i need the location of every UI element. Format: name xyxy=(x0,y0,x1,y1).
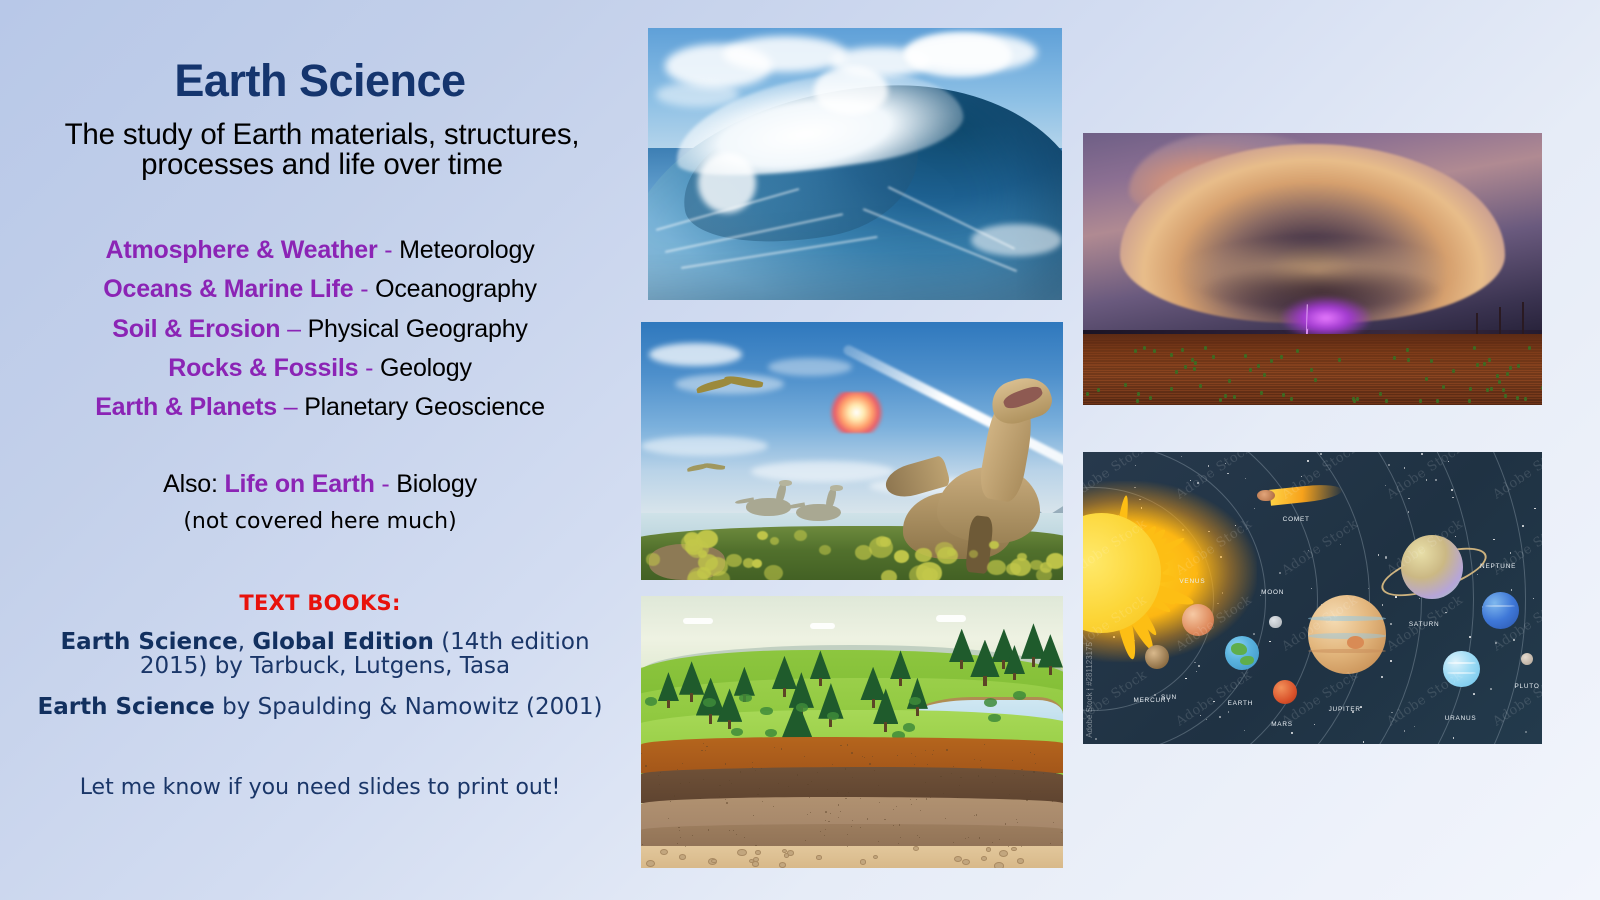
pterosaur xyxy=(696,374,764,397)
label-mercury: MERCURY xyxy=(1133,697,1171,704)
also-note: (not covered here much) xyxy=(0,509,640,534)
soil-speck xyxy=(719,785,721,787)
band xyxy=(1447,662,1476,664)
branch-field: Physical Geography xyxy=(308,315,528,343)
soil-speck xyxy=(1033,771,1035,773)
great-red-spot xyxy=(1347,636,1364,649)
shrub xyxy=(739,694,752,703)
crop-sprout xyxy=(1136,399,1139,403)
furrow-line xyxy=(1083,384,1542,386)
lightning-glow xyxy=(1280,296,1372,340)
crop-sprout xyxy=(1425,377,1428,381)
star xyxy=(1385,485,1386,486)
crop-sprout xyxy=(1124,383,1127,387)
shrub xyxy=(1046,553,1063,569)
conifer-tree xyxy=(1038,634,1063,675)
star xyxy=(1363,741,1365,743)
soil-speck xyxy=(679,830,680,831)
furrow-line xyxy=(1083,355,1542,357)
tree-trunk xyxy=(916,707,919,715)
image-dinosaur-impact xyxy=(641,322,1063,580)
star xyxy=(1451,489,1453,491)
pebble xyxy=(962,859,970,865)
soil-speck xyxy=(851,826,852,827)
branch-list: Atmosphere & Weather - Meteorology Ocean… xyxy=(0,231,640,427)
shrub xyxy=(1013,691,1026,700)
soil-speck xyxy=(773,806,774,807)
star xyxy=(1473,693,1475,695)
pebble xyxy=(860,859,867,864)
crop-sprout xyxy=(1233,395,1236,399)
also-prefix: Also: xyxy=(163,470,218,498)
meteor-fireball xyxy=(829,392,884,433)
conifer-tree xyxy=(873,688,898,732)
soil-speck xyxy=(864,757,865,758)
tree-trunk xyxy=(884,722,887,732)
soil-speck xyxy=(893,825,894,826)
also-dash: - xyxy=(381,470,389,498)
soil-speck xyxy=(862,756,863,757)
label-venus: VENUS xyxy=(1179,578,1205,585)
shrub xyxy=(903,723,916,732)
tree-canopy xyxy=(734,667,755,696)
star xyxy=(1266,744,1267,745)
crop-sprout xyxy=(1282,393,1285,397)
star xyxy=(1388,464,1390,466)
tree-trunk xyxy=(690,693,693,702)
pebble xyxy=(816,855,821,859)
shrub xyxy=(760,707,773,716)
crop-sprout xyxy=(1257,364,1260,368)
book1-title-a: Earth Science xyxy=(60,629,237,655)
crop-sprout xyxy=(1184,365,1187,369)
star xyxy=(1314,724,1315,725)
planet-earth xyxy=(1225,636,1259,670)
soil-speck xyxy=(1012,760,1013,761)
star xyxy=(1414,726,1415,727)
shrub xyxy=(909,565,933,580)
star xyxy=(1390,660,1392,662)
book1-comma: , xyxy=(238,629,245,655)
book2-details: by Spaulding & Namowitz (2001) xyxy=(222,694,602,720)
shrub xyxy=(688,567,712,580)
crop-sprout xyxy=(1310,368,1313,372)
pebble xyxy=(999,850,1009,857)
footnote-text: Let me know if you need slides to print … xyxy=(0,775,640,800)
furrow-line xyxy=(1083,342,1542,344)
stock-asset-id: Adobe Stock | #281123175 xyxy=(1085,642,1094,738)
utility-pole xyxy=(1476,313,1478,335)
label-uranus: URANUS xyxy=(1445,715,1477,722)
soil-speck xyxy=(946,749,947,750)
image-supercell-storm xyxy=(1083,133,1542,405)
list-item: Atmosphere & Weather - Meteorology xyxy=(0,231,640,270)
soil-speck xyxy=(729,830,730,831)
soil-speck xyxy=(1023,775,1024,776)
label-jupiter: JUPITER xyxy=(1329,706,1361,713)
textbooks-heading: TEXT BOOKS: xyxy=(0,591,640,615)
book2-title: Earth Science xyxy=(38,694,215,720)
branch-dash: - xyxy=(365,354,373,382)
soil-speck xyxy=(980,760,981,761)
cloud-shape xyxy=(649,343,742,366)
cloud-shape xyxy=(810,623,835,629)
shrub xyxy=(770,537,779,545)
furrow-line xyxy=(1083,381,1542,383)
soil-speck xyxy=(668,818,669,819)
label-moon: MOON xyxy=(1261,589,1284,596)
soil-speck xyxy=(825,820,826,821)
crop-sprout xyxy=(1486,388,1489,392)
soil-speck xyxy=(920,810,921,811)
branch-topic: Atmosphere & Weather xyxy=(105,236,377,264)
shrub xyxy=(881,570,897,580)
furrow-line xyxy=(1083,358,1542,360)
soil-speck xyxy=(752,762,753,763)
soil-speck xyxy=(869,763,870,764)
shrub xyxy=(703,698,716,707)
tree-trunk xyxy=(899,678,902,686)
crop-sprout xyxy=(1153,349,1156,353)
crop-sprout xyxy=(1517,364,1520,368)
page-subtitle: The study of Earth materials, structures… xyxy=(32,120,612,179)
crop-sprout xyxy=(1407,358,1410,362)
soil-speck xyxy=(840,811,841,812)
soil-speck xyxy=(984,744,985,745)
crop-sprout xyxy=(1483,362,1486,366)
planet-moon xyxy=(1269,616,1282,629)
furrow-line xyxy=(1083,386,1542,388)
cloud-shape xyxy=(936,615,966,622)
furrow-line xyxy=(1083,350,1542,352)
furrow-line xyxy=(1083,376,1542,378)
soil-speck xyxy=(867,818,869,820)
band xyxy=(1308,649,1386,654)
pebble xyxy=(994,862,1004,868)
crop-sprout xyxy=(1504,394,1507,398)
shrub xyxy=(646,553,661,566)
continent xyxy=(1240,656,1254,665)
soil-speck xyxy=(897,755,898,756)
branch-dash: - xyxy=(384,236,392,264)
soil-speck xyxy=(788,786,789,787)
pterosaur xyxy=(687,461,725,474)
crop-sprout xyxy=(1134,349,1137,353)
branch-topic: Earth & Planets xyxy=(95,393,277,421)
star xyxy=(1368,588,1369,589)
textbook-entry-2: Earth Science by Spaulding & Namowitz (2… xyxy=(20,694,620,720)
soil-speck xyxy=(689,782,690,783)
band xyxy=(1308,633,1386,639)
shrub xyxy=(819,545,831,555)
soil-speck xyxy=(974,815,975,816)
pebble xyxy=(737,849,747,856)
soil-speck xyxy=(733,830,734,831)
book1-title-b: Global Edition xyxy=(252,629,434,655)
soil-speck xyxy=(1021,846,1022,847)
crop-sprout xyxy=(1219,398,1222,402)
tree-canopy xyxy=(658,672,679,701)
crop-sprout xyxy=(1175,370,1178,374)
star xyxy=(1340,544,1341,545)
text-column: Earth Science The study of Earth materia… xyxy=(0,0,640,900)
soil-speck xyxy=(911,804,912,805)
branch-field: Geology xyxy=(380,354,472,382)
crop-sprout xyxy=(1224,394,1227,398)
soil-speck xyxy=(830,813,831,814)
sea-spray xyxy=(814,66,889,115)
soil-speck xyxy=(979,837,980,838)
star xyxy=(1435,479,1437,481)
soil-speck xyxy=(919,837,920,838)
crop-sprout xyxy=(1356,397,1359,401)
tree-canopy xyxy=(890,650,911,679)
star xyxy=(1154,694,1156,696)
shrub xyxy=(988,714,1001,723)
tree-trunk xyxy=(709,714,713,724)
crop-sprout xyxy=(1379,392,1382,396)
star xyxy=(1291,732,1292,733)
soil-speck xyxy=(1035,763,1036,764)
crop-sprout xyxy=(1516,396,1519,400)
soil-speck xyxy=(874,770,875,771)
soil-speck xyxy=(825,811,827,813)
tree-trunk xyxy=(1013,673,1016,681)
crop-sprout xyxy=(1541,386,1542,390)
branch-field: Oceanography xyxy=(375,275,537,303)
cloud-shape xyxy=(641,436,768,457)
list-item: Rocks & Fossils - Geology xyxy=(0,349,640,388)
pebble xyxy=(784,853,790,858)
crop-sprout xyxy=(1170,353,1173,357)
soil-speck xyxy=(726,802,727,803)
soil-speck xyxy=(755,845,756,846)
soil-speck xyxy=(680,783,681,784)
soil-speck xyxy=(827,789,828,790)
branch-dash: – xyxy=(284,393,298,421)
tree-canopy xyxy=(810,650,831,679)
pebble xyxy=(986,847,992,851)
star xyxy=(1525,731,1527,733)
crop-sprout xyxy=(1204,346,1207,350)
list-item: Earth & Planets – Planetary Geoscience xyxy=(0,388,640,427)
furrow-line xyxy=(1083,394,1542,396)
page-title: Earth Science xyxy=(0,55,640,107)
soil-speck xyxy=(916,799,917,800)
soil-speck xyxy=(852,777,853,778)
soil-speck xyxy=(965,838,966,839)
shrub xyxy=(1010,558,1031,576)
soil-speck xyxy=(658,775,659,776)
conifer-tree xyxy=(818,683,843,727)
furrow-line xyxy=(1083,402,1542,404)
crop-sprout xyxy=(1473,346,1476,350)
crop-sprout xyxy=(1314,378,1317,382)
list-item: Soil & Erosion – Physical Geography xyxy=(0,310,640,349)
soil-speck xyxy=(807,814,808,815)
soil-speck xyxy=(674,795,675,796)
pebble xyxy=(660,849,668,855)
pebble xyxy=(779,862,786,868)
tree-trunk xyxy=(728,720,731,729)
pebble xyxy=(646,860,655,867)
shrub xyxy=(969,550,978,558)
soil-speck xyxy=(1026,799,1027,800)
soil-speck xyxy=(677,843,678,844)
conifer-tree xyxy=(658,672,679,707)
star xyxy=(1453,737,1454,738)
soil-speck xyxy=(670,801,671,802)
slide-canvas: Earth Science The study of Earth materia… xyxy=(0,0,1600,900)
branch-topic: Oceans & Marine Life xyxy=(103,275,353,303)
crop-sprout xyxy=(1436,399,1439,403)
tree-trunk xyxy=(1049,666,1052,675)
shrub xyxy=(645,697,658,706)
branch-topic: Soil & Erosion xyxy=(112,315,280,343)
soil-speck xyxy=(645,765,646,766)
sauropod xyxy=(793,487,852,528)
sea-spray xyxy=(905,33,1013,77)
tree-canopy xyxy=(873,688,898,724)
crop-sprout xyxy=(1244,354,1247,358)
shrub xyxy=(984,698,997,707)
soil-speck xyxy=(753,815,754,816)
soil-speck xyxy=(700,798,701,799)
soil-speck xyxy=(719,796,720,797)
planet-mercury xyxy=(1145,645,1169,669)
tree-trunk xyxy=(960,660,963,669)
crop-sprout xyxy=(1430,359,1433,363)
soil-speck xyxy=(703,779,704,780)
crop-sprout xyxy=(1249,368,1252,372)
cloud-shape xyxy=(656,82,739,106)
continent xyxy=(1231,643,1247,655)
crop-sprout xyxy=(1097,388,1100,392)
soil-speck xyxy=(1053,822,1054,823)
soil-speck xyxy=(670,799,671,800)
crop-sprout xyxy=(1263,373,1266,377)
cloud-shape xyxy=(683,618,713,625)
textbook-entry-1: Earth Science, Global Edition (14th edit… xyxy=(30,630,620,678)
star xyxy=(1469,636,1471,638)
wing xyxy=(703,462,726,471)
star xyxy=(1378,554,1379,555)
soil-speck xyxy=(1055,773,1056,774)
furrow-line xyxy=(1083,353,1542,355)
soil-speck xyxy=(953,766,954,767)
soil-speck xyxy=(706,746,707,747)
furrow-line xyxy=(1083,378,1542,380)
shrub xyxy=(796,703,809,712)
soil-speck xyxy=(860,827,861,828)
pebble xyxy=(954,856,962,862)
soil-speck xyxy=(828,821,830,823)
star xyxy=(1511,589,1513,591)
soil-speck xyxy=(642,844,643,845)
soil-speck xyxy=(774,747,775,748)
image-soil-layers xyxy=(641,596,1063,868)
list-item: Oceans & Marine Life - Oceanography xyxy=(0,270,640,309)
soil-speck xyxy=(825,829,826,830)
band xyxy=(1485,605,1515,607)
utility-pole xyxy=(1499,307,1501,334)
soil-speck xyxy=(940,776,941,777)
crop-sprout xyxy=(1509,366,1512,370)
branch-field: Meteorology xyxy=(399,236,534,264)
planet-neptune xyxy=(1482,592,1519,629)
branch-field: Planetary Geoscience xyxy=(304,393,545,421)
pebble xyxy=(1011,847,1016,851)
crop-sprout xyxy=(1270,359,1273,363)
crop-sprout xyxy=(1199,384,1202,388)
crop-sprout xyxy=(1528,346,1531,350)
furrow-line xyxy=(1083,363,1542,365)
soil-speck xyxy=(797,774,798,775)
soil-speck xyxy=(677,769,678,770)
furrow-line xyxy=(1083,360,1542,362)
crop-sprout xyxy=(1338,358,1341,362)
soil-speck xyxy=(752,767,753,768)
tree-trunk xyxy=(667,700,670,708)
also-line: Also: Life on Earth - Biology xyxy=(0,470,640,499)
soil-speck xyxy=(879,802,880,803)
also-topic: Life on Earth xyxy=(224,470,374,498)
crop-sprout xyxy=(1406,348,1409,352)
soil-speck xyxy=(945,818,946,819)
shrub xyxy=(743,558,754,568)
soil-speck xyxy=(1052,800,1053,801)
soil-speck xyxy=(838,804,840,806)
pebble xyxy=(981,856,987,861)
furrow-line xyxy=(1083,391,1542,393)
soil-speck xyxy=(678,827,680,829)
head xyxy=(779,480,792,486)
soil-speck xyxy=(847,834,848,835)
conifer-tree xyxy=(810,650,831,685)
furrow-line xyxy=(1083,366,1542,368)
branch-dash: – xyxy=(287,315,301,343)
crop-sprout xyxy=(1502,388,1505,392)
soil-speck xyxy=(701,750,702,751)
soil-speck xyxy=(981,767,982,768)
comet-head xyxy=(1257,490,1274,502)
cloud-shape xyxy=(751,461,894,482)
soil-speck xyxy=(840,745,841,746)
wing xyxy=(724,374,764,390)
also-field: Biology xyxy=(396,470,477,498)
label-comet: COMET xyxy=(1283,516,1310,523)
soil-speck xyxy=(805,840,806,841)
image-ocean-wave xyxy=(648,28,1062,300)
tree-trunk xyxy=(783,688,786,697)
soil-speck xyxy=(1030,752,1031,753)
crop-sprout xyxy=(1490,387,1493,391)
star xyxy=(1185,678,1186,679)
soil-speck xyxy=(740,771,741,772)
crop-sprout xyxy=(1393,356,1396,360)
crop-sprout xyxy=(1143,346,1146,350)
soil-speck xyxy=(1034,754,1035,755)
shrub xyxy=(764,565,783,580)
star xyxy=(1404,730,1405,731)
furrow-line xyxy=(1083,389,1542,391)
furrow-line xyxy=(1083,399,1542,401)
soil-speck xyxy=(927,764,928,765)
tyrannosaurus xyxy=(911,379,1054,570)
furrow-line xyxy=(1083,404,1542,405)
branch-topic: Rocks & Fossils xyxy=(168,354,358,382)
soil-speck xyxy=(851,752,853,754)
